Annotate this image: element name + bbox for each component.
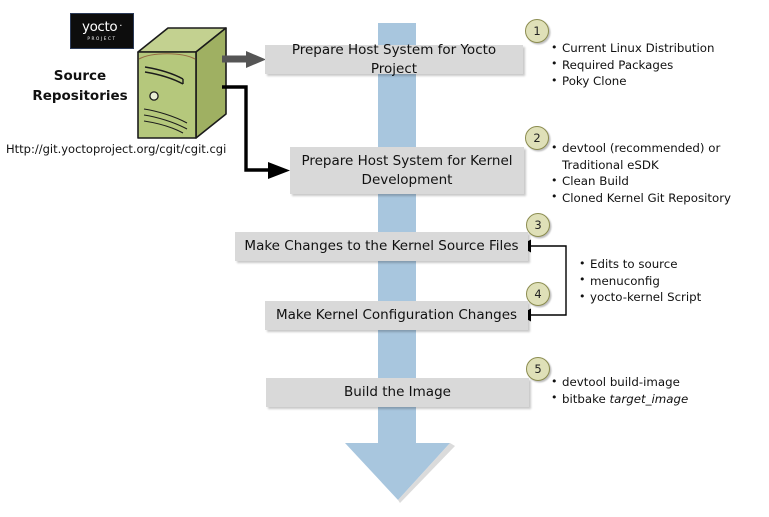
process-box-make-kernel-source-changes[interactable]: Make Changes to the Kernel Source Files [235,232,528,261]
step-1-bullet-list: Current Linux Distribution Required Pack… [551,40,761,90]
process-box-label: Build the Image [344,383,451,402]
step-number: 2 [533,131,540,145]
step-badge-4: 4 [526,282,550,306]
step-5-bullet-list: devtool build-image bitbake target_image [551,374,756,407]
diagram-canvas: yocto· PROJECT Source Repositories Http:… [0,0,769,517]
list-item: Clean Build [551,173,756,190]
step-number: 3 [534,218,541,232]
connector-server-to-step2 [222,87,290,179]
list-item: Current Linux Distribution [551,40,761,57]
process-box-make-kernel-config-changes[interactable]: Make Kernel Configuration Changes [265,301,528,330]
step-number: 4 [534,287,541,301]
yocto-project-logo: yocto· PROJECT [70,13,134,49]
process-box-build-the-image[interactable]: Build the Image [266,378,529,407]
step-badge-1: 1 [525,19,549,43]
source-repositories-line2: Repositories [18,86,142,106]
logo-word-text: yocto [82,19,117,35]
list-item: Poky Clone [551,73,761,90]
logo-wordmark: yocto· [82,21,122,35]
list-item: yocto-kernel Script [579,289,759,306]
process-box-label: Prepare Host System for Yocto Project [273,41,515,79]
list-item: devtool (recommended) or Traditional eSD… [551,140,756,173]
process-box-label: Prepare Host System for Kernel Developme… [301,152,512,190]
list-item: Edits to source [579,256,759,273]
process-box-label-line1: Prepare Host System for Kernel [301,153,512,169]
list-item: bitbake target_image [551,391,756,408]
command-prefix: bitbake [562,392,610,406]
steps-3-4-shared-bullet-list: Edits to source menuconfig yocto-kernel … [579,256,759,306]
step-number: 5 [534,362,541,376]
list-item: Required Packages [551,57,761,74]
list-item: menuconfig [579,273,759,290]
process-box-label: Make Changes to the Kernel Source Files [244,237,518,256]
source-repositories-label: Source Repositories [18,66,142,106]
logo-dot: · [119,21,122,32]
server-tower-icon [134,26,230,146]
process-box-prepare-host-yocto[interactable]: Prepare Host System for Yocto Project [265,45,523,74]
step-2-bullet-list: devtool (recommended) or Traditional eSD… [551,140,756,206]
step-badge-3: 3 [526,213,550,237]
step-badge-2: 2 [525,126,549,150]
process-box-prepare-host-kernel[interactable]: Prepare Host System for Kernel Developme… [290,147,524,194]
step-number: 1 [533,24,540,38]
logo-subtext: PROJECT [87,37,116,41]
list-item: devtool build-image [551,374,756,391]
list-item: Cloned Kernel Git Repository [551,190,756,207]
process-box-label-line2: Development [362,172,453,188]
source-repositories-line1: Source [18,66,142,86]
command-argument: target_image [610,392,689,406]
process-box-label: Make Kernel Configuration Changes [276,306,517,325]
step-badge-5: 5 [526,357,550,381]
